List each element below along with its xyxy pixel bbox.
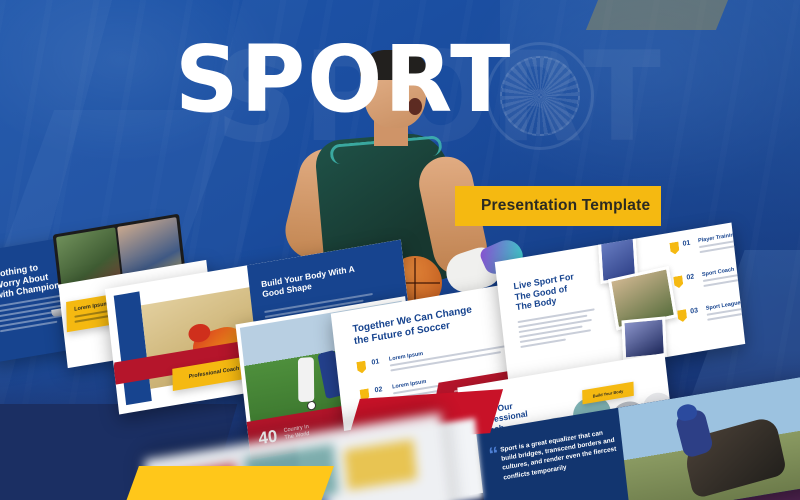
slide-quote-text: Sport is a great equalizer that can buil…: [500, 426, 623, 482]
shield-marker-icon: [677, 309, 687, 322]
presentation-template-label: Presentation Template: [481, 197, 650, 215]
decor-parallelogram-yellow-top: [586, 0, 732, 30]
slide-soccer-feature-01-num: 01: [371, 358, 379, 366]
slide-live-feature-01-num: 01: [682, 240, 690, 248]
presentation-template-band: Presentation Template: [455, 186, 661, 226]
preview-canvas: SPORT SPORT Presentation Template Nothin…: [0, 0, 800, 500]
slide-live-feature-02: 02 Sport Coach: [673, 263, 745, 295]
slide-quote-block: Sport is a great equalizer that can buil…: [500, 426, 623, 482]
slide-live-feature-03-text: Sport League: [706, 297, 746, 324]
slide-soccer-feature-02-num: 02: [374, 386, 382, 394]
soccer-ball-icon: [307, 400, 317, 410]
coach-badge-label: Build Your Body: [593, 388, 624, 398]
shield-marker-icon: [356, 361, 366, 374]
slide-live-body: [518, 308, 598, 351]
quote-mark-icon: “: [488, 444, 500, 466]
decor-yellow-bottom: [117, 466, 334, 500]
soccer-player-white: [298, 357, 314, 402]
slide-live-feature-02-num: 02: [686, 273, 694, 281]
shield-marker-icon: [673, 275, 683, 288]
shield-marker-icon: [669, 242, 679, 255]
blur-block-3: [344, 439, 417, 490]
slide-live-feature-03: 03 Sport League: [677, 297, 745, 329]
professional-coach-badge-label: Professional Coach: [189, 366, 240, 381]
slide-live-title: Live Sport For The Good of The Body: [513, 267, 601, 313]
slide-live-feature-03-num: 03: [690, 307, 698, 315]
page-title: SPORT: [175, 38, 512, 123]
